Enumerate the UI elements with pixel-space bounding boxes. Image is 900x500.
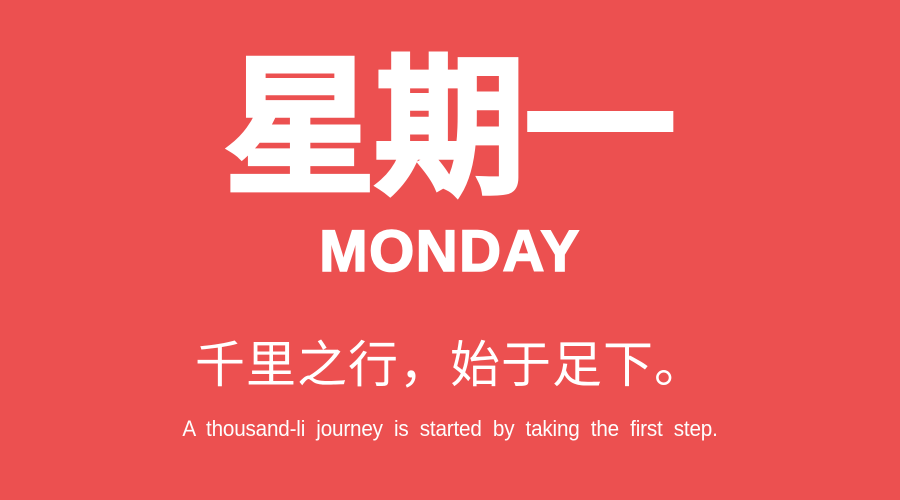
proverb-cjk: 千里之行，始于足下。 [0,332,900,398]
day-name-latin: MONDAY [0,224,900,280]
proverb-english: A thousand-li journey is started by taki… [27,414,873,444]
daily-quote-card: 星期一 MONDAY 千里之行，始于足下。 A thousand-li jour… [0,0,900,500]
day-title-cjk: 星期一 [0,36,900,222]
